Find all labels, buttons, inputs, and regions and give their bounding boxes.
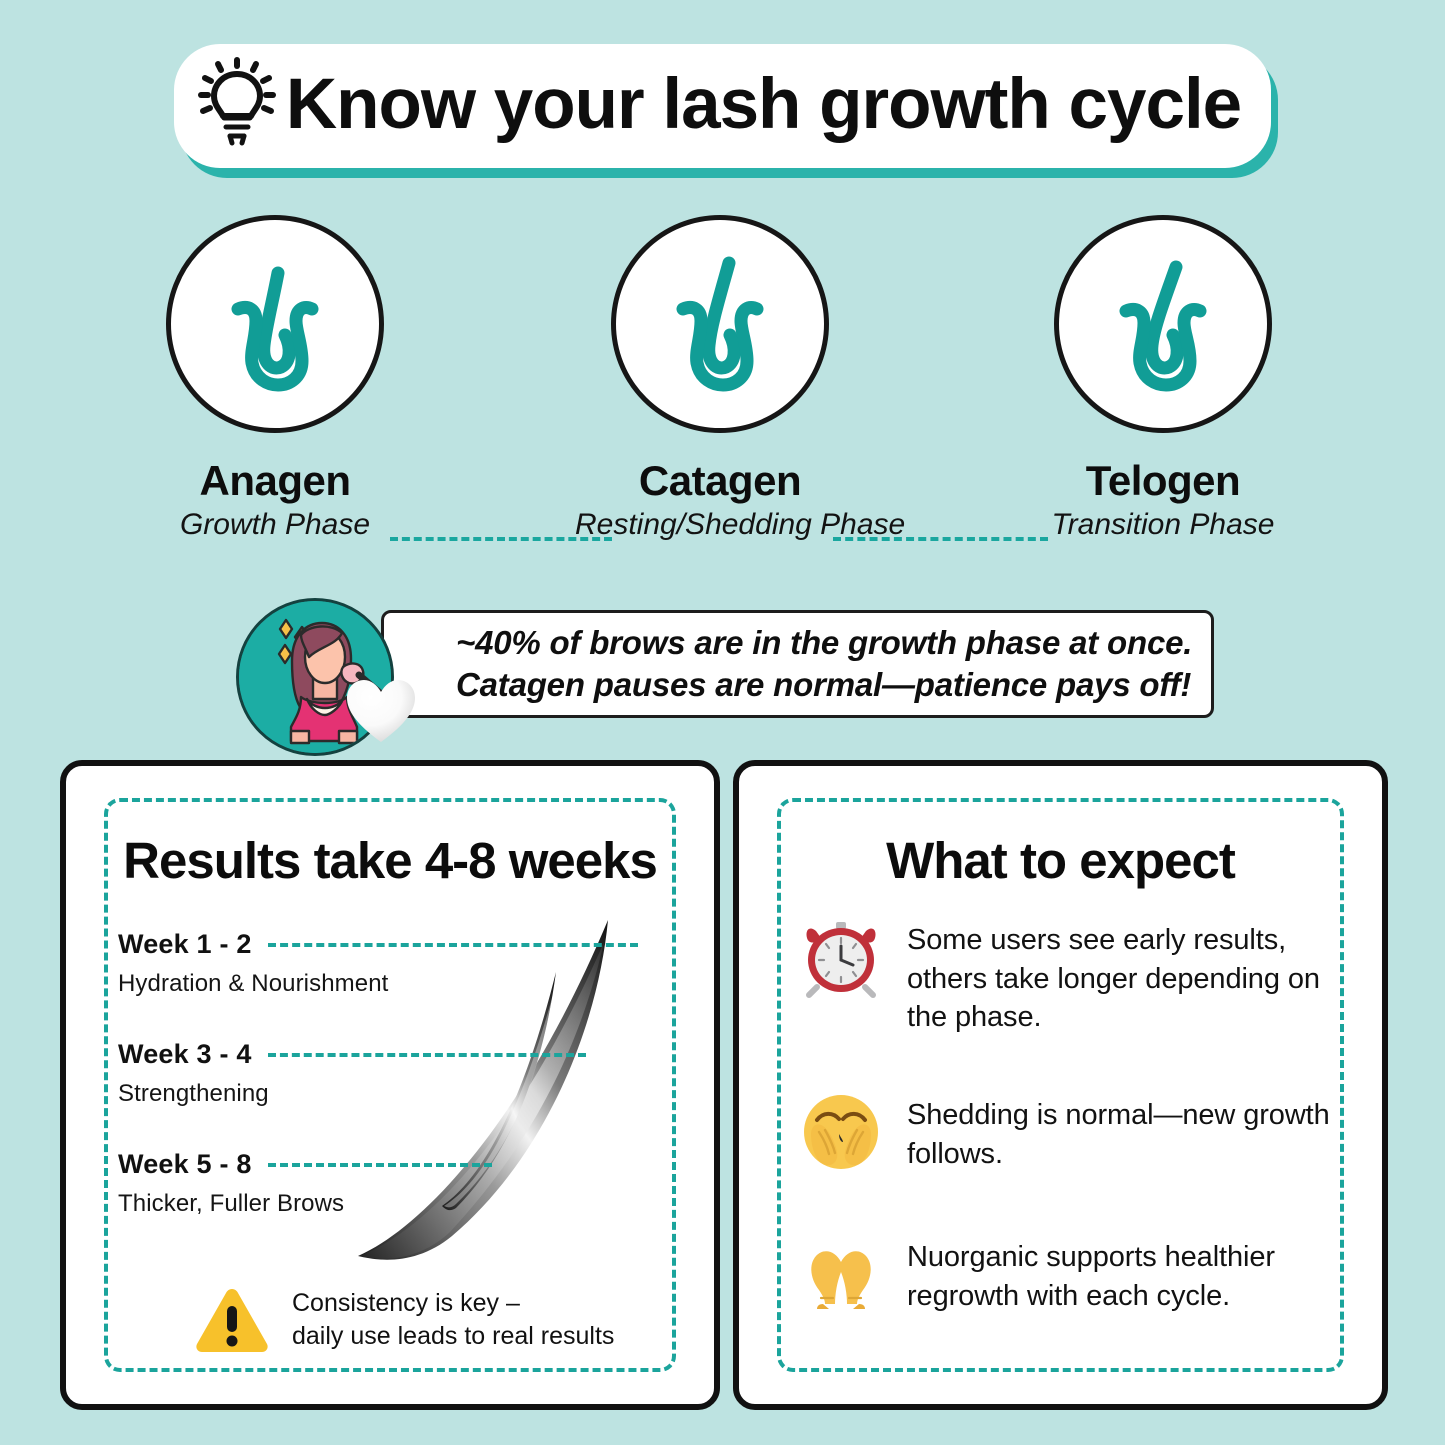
expect-item: Some users see early results, others tak… <box>799 921 1336 1037</box>
timeline-week: Week 5 - 8 <box>118 1149 252 1180</box>
timeline-dash <box>268 1053 586 1057</box>
infographic-stage: Know your lash growth cycle Anagen Growt… <box>0 0 1445 1445</box>
heart-hands-icon <box>799 1232 883 1316</box>
callout-line-1: ~40% of brows are in the growth phase at… <box>456 622 1211 664</box>
timeline-item: Week 3 - 4 Strengthening <box>118 1039 586 1108</box>
phase-subtitle: Transition Phase <box>1018 508 1308 541</box>
alarm-clock-icon <box>799 915 883 999</box>
white-heart-icon <box>344 676 418 746</box>
expect-text: Nuorganic supports healthier regrowth wi… <box>907 1238 1336 1315</box>
title-sticker: Know your lash growth cycle <box>174 44 1271 168</box>
phase-telogen[interactable]: Telogen Transition Phase <box>1018 215 1308 541</box>
timeline-week: Week 1 - 2 <box>118 929 252 960</box>
page-title-area: Know your lash growth cycle <box>0 44 1445 168</box>
phase-name: Telogen <box>1018 459 1308 503</box>
timeline-desc: Hydration & Nourishment <box>118 970 638 998</box>
left-card-title: Results take 4-8 weeks <box>66 831 714 890</box>
timeline-dash <box>268 943 638 947</box>
phase-catagen[interactable]: Catagen Resting/Shedding Phase <box>575 215 865 541</box>
timeline-desc: Strengthening <box>118 1080 586 1108</box>
consistency-note: Consistency is key – daily use leads to … <box>194 1286 614 1354</box>
consistency-line-2: daily use leads to real results <box>292 1320 614 1353</box>
consistency-line-1: Consistency is key – <box>292 1287 614 1320</box>
timeline-week: Week 3 - 4 <box>118 1039 252 1070</box>
expect-item: Shedding is normal—new growth follows. <box>799 1096 1336 1174</box>
timeline-dash <box>268 1163 492 1167</box>
hair-follicle-icon <box>216 249 334 399</box>
phase-circle <box>611 215 829 433</box>
lightbulb-icon <box>198 54 276 150</box>
phase-circle <box>166 215 384 433</box>
hair-follicle-icon <box>1104 249 1222 399</box>
callout-banner: ~40% of brows are in the growth phase at… <box>236 598 1214 736</box>
phase-name: Anagen <box>130 459 420 503</box>
phase-subtitle: Growth Phase <box>130 508 420 541</box>
timeline-desc: Thicker, Fuller Brows <box>118 1190 492 1218</box>
results-card: Results take 4-8 weeks Week 1 - 2 Hydrat… <box>60 760 720 1410</box>
phase-name: Catagen <box>575 459 865 503</box>
page-title: Know your lash growth cycle <box>286 69 1241 140</box>
phase-row: Anagen Growth Phase Catagen Resting/Shed… <box>0 215 1445 555</box>
consistency-text: Consistency is key – daily use leads to … <box>292 1287 614 1353</box>
timeline-item: Week 1 - 2 Hydration & Nourishment <box>118 929 638 998</box>
callout-box: ~40% of brows are in the growth phase at… <box>381 610 1214 718</box>
expect-text: Some users see early results, others tak… <box>907 921 1336 1037</box>
expect-text: Shedding is normal—new growth follows. <box>907 1096 1336 1173</box>
phase-circle <box>1054 215 1272 433</box>
callout-line-2: Catagen pauses are normal—patience pays … <box>456 664 1211 706</box>
timeline-item: Week 5 - 8 Thicker, Fuller Brows <box>118 1149 492 1218</box>
warning-triangle-icon <box>194 1286 270 1354</box>
expect-item: Nuorganic supports healthier regrowth wi… <box>799 1238 1336 1316</box>
hair-follicle-icon <box>661 249 779 399</box>
right-card-title: What to expect <box>739 831 1382 890</box>
face-with-hands-over-mouth-icon <box>799 1090 883 1174</box>
expect-card: What to expect <box>733 760 1388 1410</box>
phase-subtitle: Resting/Shedding Phase <box>575 508 865 541</box>
phase-anagen[interactable]: Anagen Growth Phase <box>130 215 420 541</box>
